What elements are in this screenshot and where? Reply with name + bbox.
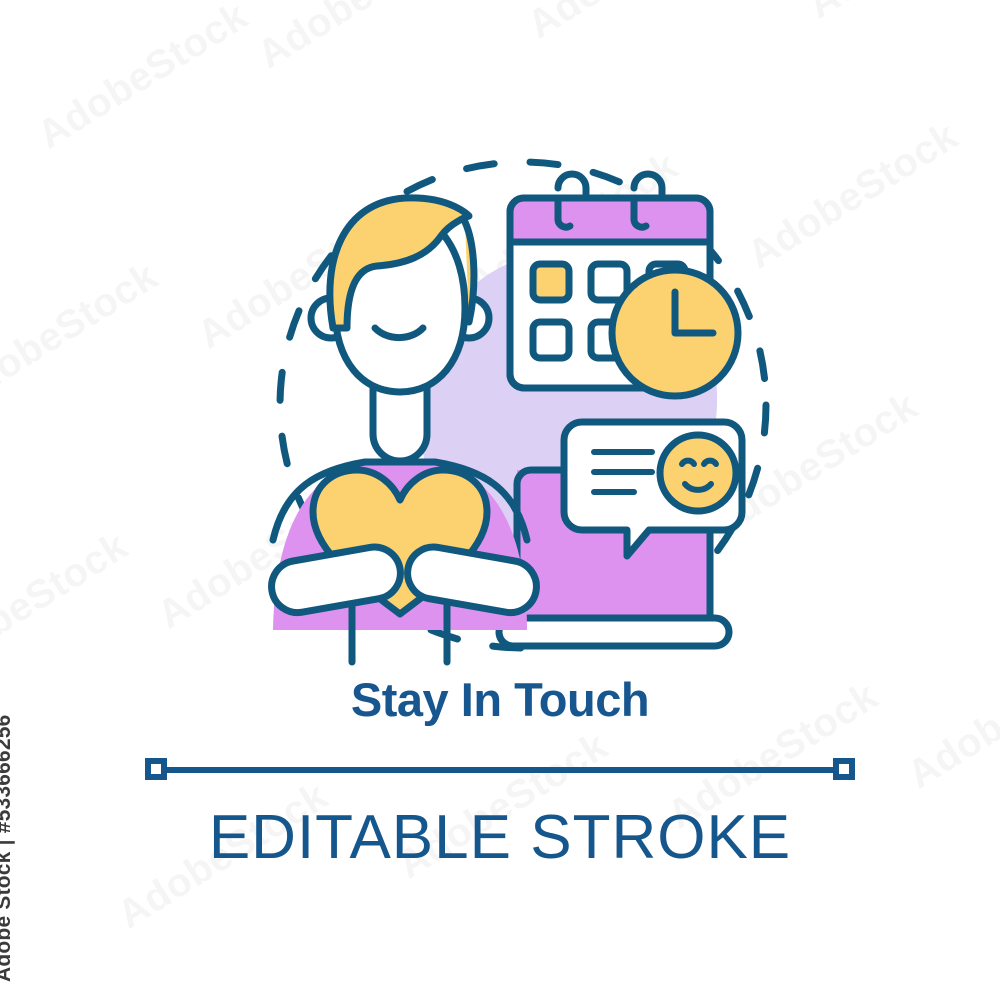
watermark-text: AdobeStock (250, 0, 476, 78)
stay-in-touch-concept-illustration (255, 140, 795, 680)
stock-credit-strip: Adobe Stock | #533666256 (0, 0, 62, 1000)
stroke-bar (145, 752, 855, 786)
right-anchor-handle[interactable] (833, 758, 855, 780)
left-anchor-handle[interactable] (145, 758, 167, 780)
calendar-day-cell-selected (533, 264, 569, 300)
stock-credit-label: Adobe Stock | #533666256 (0, 715, 16, 983)
screenshot-canvas: AdobeStock AdobeStock AdobeStock AdobeSt… (0, 0, 1000, 1000)
calendar-day-cell (533, 322, 569, 358)
laptop-base (499, 618, 729, 646)
watermark-text: AdobeStock (800, 0, 1000, 28)
watermark-text: AdobeStock (520, 0, 746, 48)
clock (612, 270, 738, 396)
person-neck (373, 386, 427, 461)
page-title: Stay In Touch (0, 672, 1000, 727)
watermark-text: AdobeStock (30, 0, 256, 158)
smiley-face (660, 435, 736, 511)
editable-stroke-banner: EDITABLE STROKE (0, 752, 1000, 873)
stroke-line (163, 767, 837, 773)
smiley-eye-left (682, 461, 694, 464)
editable-stroke-caption: EDITABLE STROKE (0, 802, 1000, 873)
smiley-eye-right (704, 461, 716, 464)
